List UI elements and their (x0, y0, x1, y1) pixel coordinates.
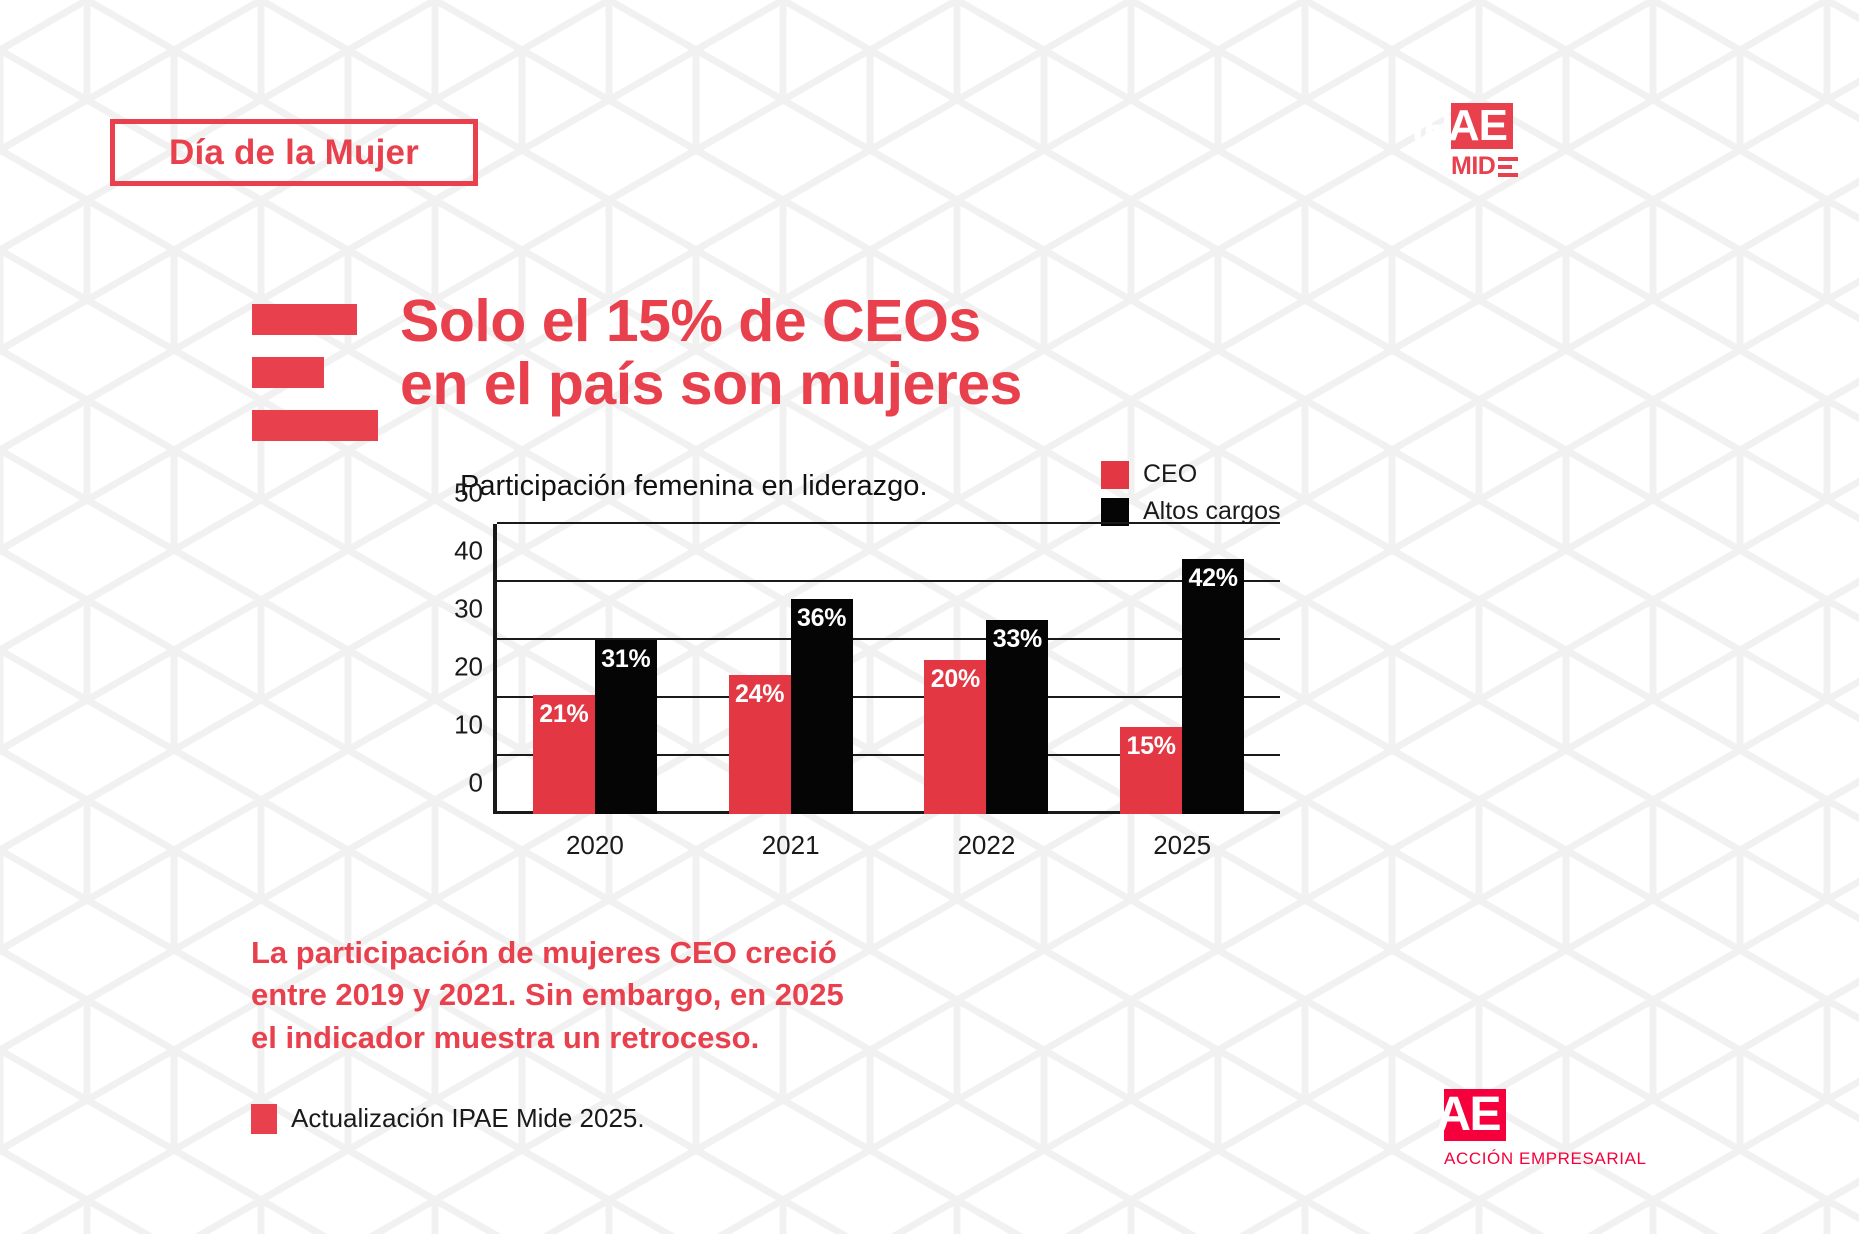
mide-sublogo: MID (1451, 154, 1741, 179)
day-badge-label: Día de la Mujer (169, 133, 419, 173)
mide-label: MID (1451, 154, 1495, 179)
day-badge: Día de la Mujer (110, 119, 478, 186)
y-axis-tick-label: 10 (454, 710, 483, 741)
footnote-label: Actualización IPAE Mide 2025. (291, 1103, 645, 1134)
x-axis-tick-label: 2020 (497, 830, 693, 861)
x-axis-tick-label: 2025 (1084, 830, 1280, 861)
ipae-wordmark-bar: IPAE (1451, 103, 1513, 149)
bar-value-label: 21% (533, 700, 595, 729)
bar-ceo: 24% (729, 675, 791, 814)
bar-ceo: 15% (1120, 727, 1182, 814)
bar-value-label: 42% (1182, 564, 1244, 593)
y-axis-tick-label: 0 (469, 768, 483, 799)
plot-area: 01020304050 21%31%24%36%20%33%15%42% (493, 524, 1280, 814)
bar-value-label: 24% (729, 680, 791, 709)
x-axis-tick-label: 2021 (693, 830, 889, 861)
y-axis-tick-label: 40 (454, 536, 483, 567)
insight-text: La participación de mujeres CEO creció e… (251, 932, 991, 1059)
bar-group: 24%36% (693, 524, 889, 814)
y-axis-tick-label: 30 (454, 594, 483, 625)
ipae-wordmark-bar-bottom: IPAE (1444, 1089, 1506, 1141)
page-title: Solo el 15% de CEOs en el país son mujer… (400, 290, 1022, 416)
footnote-marker-icon (251, 1104, 277, 1134)
ipae-wordmark-bottom: IPAE (1398, 1089, 1506, 1141)
bars-layer: 21%31%24%36%20%33%15%42% (497, 524, 1280, 814)
bar-value-label: 33% (986, 625, 1048, 654)
bar-ceo: 21% (533, 695, 595, 814)
ipae-accion-empresarial-logo: IPAE ACCIÓN EMPRESARIAL (1444, 1089, 1734, 1169)
bar-altos-cargos: 31% (595, 640, 657, 814)
bar-value-label: 31% (595, 645, 657, 674)
legend-swatch-ceo (1101, 461, 1129, 489)
legend-label-ceo: CEO (1143, 460, 1197, 489)
bar-group: 21%31% (497, 524, 693, 814)
bar-value-label: 36% (791, 604, 853, 633)
bar-altos-cargos: 33% (986, 620, 1048, 814)
bar-altos-cargos: 42% (1182, 559, 1244, 814)
x-axis-tick-label: 2022 (889, 830, 1085, 861)
ipae-mide-logo: IPAE MID (1451, 103, 1741, 179)
bar-value-label: 15% (1120, 732, 1182, 761)
headline-block: Solo el 15% de CEOs en el país son mujer… (252, 290, 1022, 441)
ipae-wordmark-top: IPAE (1412, 103, 1513, 149)
legend-item-ceo: CEO (1101, 460, 1281, 489)
chart-title: Participación femenina en liderazgo. (460, 470, 928, 503)
bar-ceo: 20% (924, 660, 986, 814)
bar-group: 20%33% (889, 524, 1085, 814)
infographic-poster: Día de la Mujer IPAE MID Solo el 15% de … (0, 0, 1859, 1234)
brand-mark-icon (252, 290, 357, 441)
footnote: Actualización IPAE Mide 2025. (251, 1103, 645, 1134)
ipae-tagline: ACCIÓN EMPRESARIAL (1444, 1149, 1734, 1169)
bar-group: 15%42% (1084, 524, 1280, 814)
mide-e-glyph-icon (1498, 157, 1518, 177)
y-axis-tick-label: 50 (454, 478, 483, 509)
bar-value-label: 20% (924, 665, 986, 694)
bar-altos-cargos: 36% (791, 599, 853, 814)
x-axis-labels: 2020202120222025 (497, 830, 1280, 861)
chart-header: Participación femenina en liderazgo. CEO… (440, 462, 1280, 524)
chart: Participación femenina en liderazgo. CEO… (440, 462, 1280, 861)
y-axis-tick-label: 20 (454, 652, 483, 683)
chart-legend: CEO Altos cargos (1101, 460, 1281, 526)
